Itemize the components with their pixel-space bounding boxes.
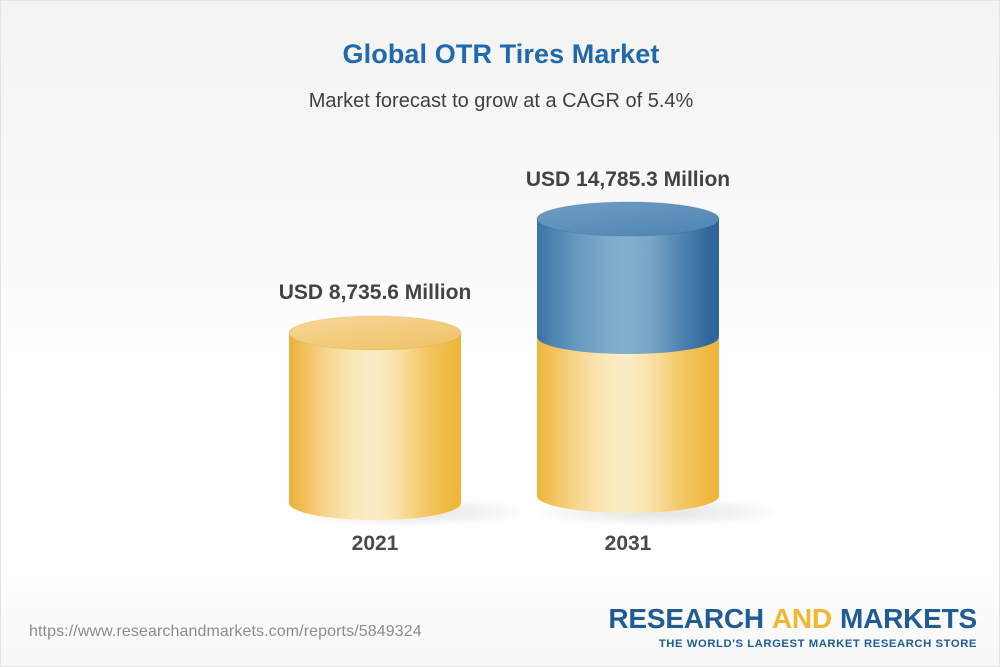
report-url[interactable]: https://www.researchandmarkets.com/repor… [29,623,422,641]
logo-word-and: AND [772,603,832,634]
bar-cylinder-2021 [285,311,465,526]
value-label-2031: USD 14,785.3 Million [526,168,730,192]
logo-wordmark: RESEARCHANDMARKETS [608,605,977,633]
category-label-2031: 2031 [605,532,652,556]
logo-tagline: THE WORLD'S LARGEST MARKET RESEARCH STOR… [608,639,977,650]
bar-cylinder-2031 [533,198,723,526]
value-label-2021: USD 8,735.6 Million [279,281,472,305]
logo-word-research: RESEARCH [608,603,764,634]
research-and-markets-logo: RESEARCHANDMARKETS THE WORLD'S LARGEST M… [608,605,977,650]
chart-canvas: Global OTR Tires Market Market forecast … [0,0,1000,667]
logo-word-markets: MARKETS [840,603,977,634]
plot-area: USD 8,735.6 Million USD 14,785.3 Million… [1,1,1000,601]
category-label-2021: 2021 [352,532,399,556]
